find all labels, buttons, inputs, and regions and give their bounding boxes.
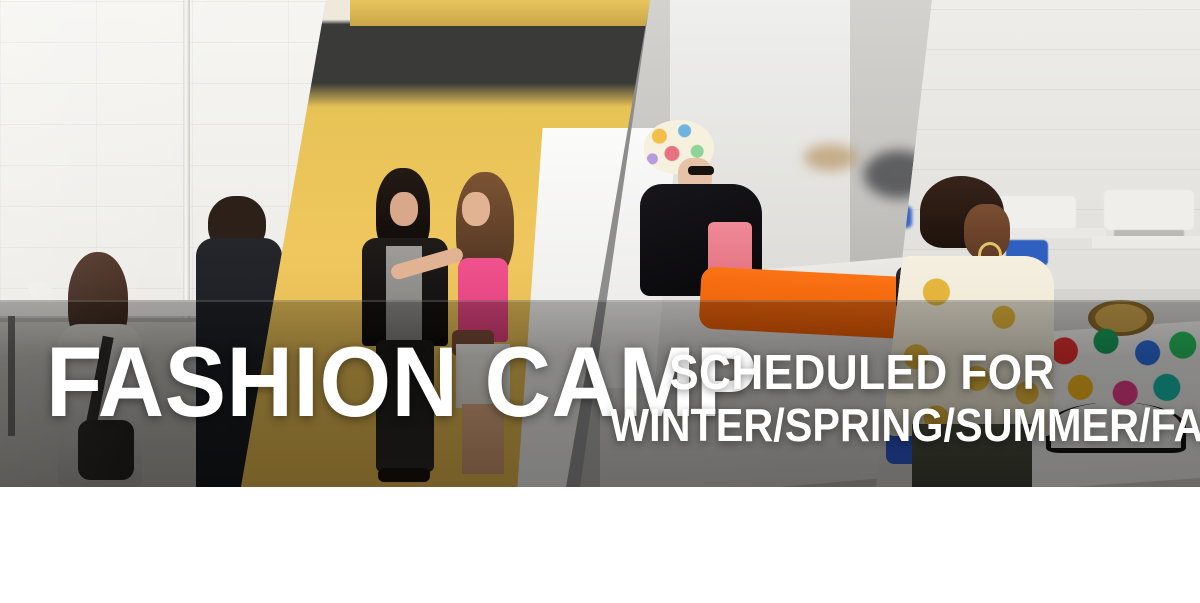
schedule-line-2: WINTER/SPRING/SUMMER/FALL 2025 xyxy=(610,399,1114,452)
schedule-text: SCHEDULED FOR WINTER/SPRING/SUMMER/FALL … xyxy=(582,349,1142,452)
sewing-machine-right xyxy=(1104,190,1194,230)
sponsor-footer: Water Tower Place Michigan Avenue • Chic… xyxy=(0,487,1200,603)
model-a-shoes xyxy=(378,468,430,482)
model-a-face xyxy=(390,192,418,226)
backdrop-roll xyxy=(350,0,650,26)
model-b-face xyxy=(462,192,490,226)
sunglasses xyxy=(688,166,714,175)
schedule-line-1: SCHEDULED FOR xyxy=(610,349,1114,399)
sewing-bench-right xyxy=(1092,236,1200,248)
event-banner: FASHION CAMP SCHEDULED FOR WINTER/SPRING… xyxy=(0,0,1200,603)
